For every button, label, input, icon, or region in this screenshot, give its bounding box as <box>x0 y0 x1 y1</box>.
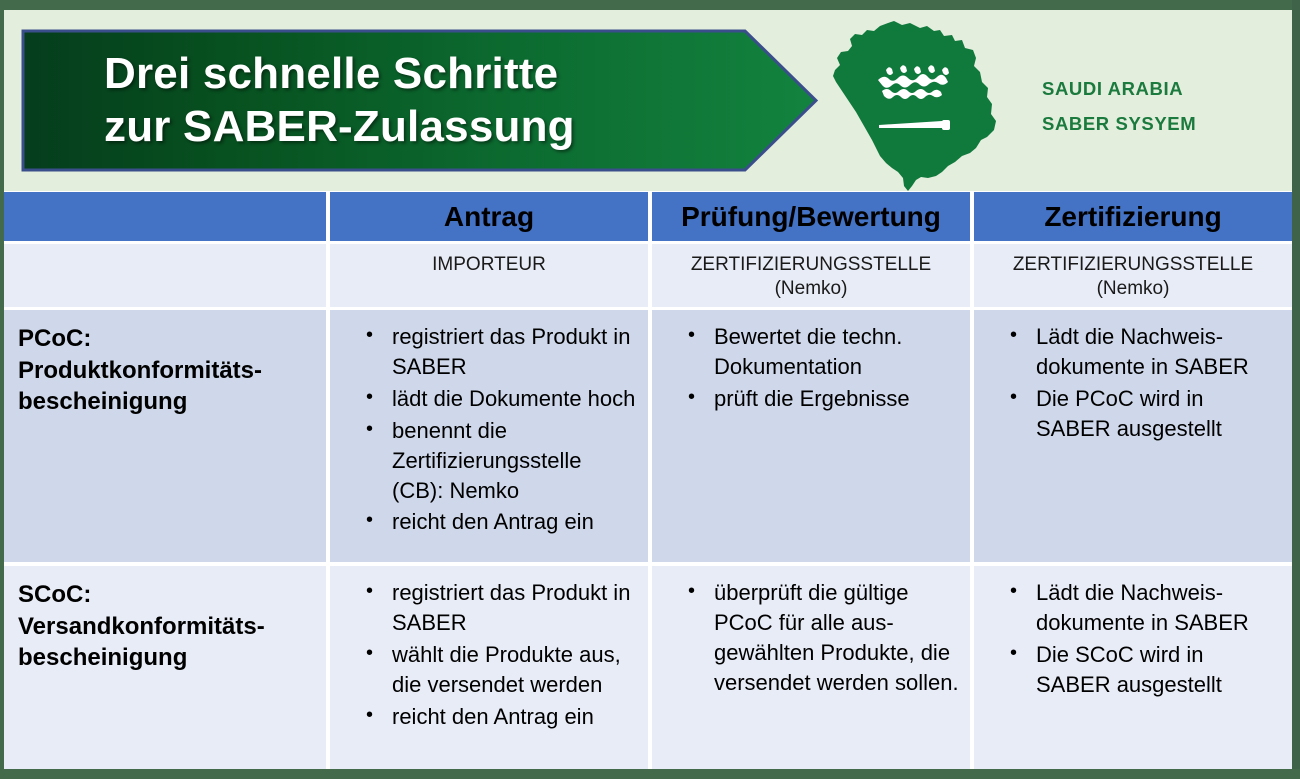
bullet-item: Die SCoC wird in SABER ausgestellt <box>1010 640 1282 700</box>
table-row-pcoc-antrag-cell: registriert das Produkt in SABERlädt die… <box>330 310 648 562</box>
bullet-item: benennt die Zertifizierungsstelle (CB): … <box>366 416 638 506</box>
frame-border-top <box>0 0 1300 10</box>
table-row-pcoc-label: PCoC: Produktkonformitäts- bescheinigung <box>4 310 326 418</box>
saudi-logo-caption-line1: SAUDI ARABIA <box>1042 80 1196 99</box>
table-header-row: Antrag Prüfung/Bewertung Zertifizierung <box>4 192 1292 241</box>
saudi-arabia-map-shape-icon <box>824 20 1004 192</box>
process-table: Antrag Prüfung/Bewertung Zertifizierung … <box>4 192 1292 769</box>
table-row-scoc-antrag-list: registriert das Produkt in SABERwählt di… <box>330 566 648 732</box>
bullet-item: überprüft die gültige PCoC für alle aus-… <box>688 578 960 698</box>
table-subheader-main-3: ZERTIFIZIERUNGSSTELLE <box>1013 253 1253 277</box>
bullet-item: reicht den Antrag ein <box>366 702 638 732</box>
table-header-cell-blank <box>4 192 326 241</box>
saudi-arabia-map-icon <box>824 20 1004 192</box>
table-row-pcoc-label-cell: PCoC: Produktkonformitäts- bescheinigung <box>4 310 326 562</box>
table-subheader-sub-2: (Nemko) <box>775 277 848 301</box>
banner-title-line2: zur SABER-Zulassung <box>104 101 721 153</box>
table-subheader-cell-zertifizierung: ZERTIFIZIERUNGSSTELLE (Nemko) <box>974 244 1292 307</box>
table-row-pcoc: PCoC: Produktkonformitäts- bescheinigung… <box>4 310 1292 562</box>
banner-title: Drei schnelle Schritte zur SABER-Zulassu… <box>21 29 721 172</box>
bullet-item: Bewertet die techn. Dokumentation <box>688 322 960 382</box>
table-subheader-sub-3: (Nemko) <box>1097 277 1170 301</box>
table-subheader-main-2: ZERTIFIZIERUNGSSTELLE <box>691 253 931 277</box>
bullet-item: Lädt die Nachweis-dokumente in SABER <box>1010 322 1282 382</box>
table-subheader-row: IMPORTEUR ZERTIFIZIERUNGSSTELLE (Nemko) … <box>4 244 1292 307</box>
frame-border-bottom <box>0 769 1300 779</box>
table-row-pcoc-pruefung-cell: Bewertet die techn. Dokumentationprüft d… <box>652 310 970 562</box>
table-subheader-main-1: IMPORTEUR <box>432 253 546 277</box>
bullet-item: reicht den Antrag ein <box>366 507 638 537</box>
bullet-item: prüft die Ergebnisse <box>688 384 960 414</box>
table-row-scoc-label-cell: SCoC: Versandkonformitäts- bescheinigung <box>4 566 326 769</box>
table-row-scoc: SCoC: Versandkonformitäts- bescheinigung… <box>4 566 1292 769</box>
bullet-item: lädt die Dokumente hoch <box>366 384 638 414</box>
bullet-item: Die PCoC wird in SABER ausgestellt <box>1010 384 1282 444</box>
table-row-pcoc-zertifizierung-list: Lädt die Nachweis-dokumente in SABERDie … <box>974 310 1292 444</box>
table-row-scoc-label: SCoC: Versandkonformitäts- bescheinigung <box>4 566 326 674</box>
table-row-scoc-antrag-cell: registriert das Produkt in SABERwählt di… <box>330 566 648 769</box>
bullet-item: registriert das Produkt in SABER <box>366 578 638 638</box>
table-header-cell-pruefung: Prüfung/Bewertung <box>652 192 970 241</box>
table-subheader-cell-blank <box>4 244 326 307</box>
bullet-item: wählt die Produkte aus, die versendet we… <box>366 640 638 700</box>
frame-border-right <box>1292 0 1300 779</box>
bullet-item: Lädt die Nachweis-dokumente in SABER <box>1010 578 1282 638</box>
saudi-logo-caption: SAUDI ARABIA SABER SYSYEM <box>1042 80 1196 133</box>
bullet-item: registriert das Produkt in SABER <box>366 322 638 382</box>
title-arrow-banner: Drei schnelle Schritte zur SABER-Zulassu… <box>21 29 818 172</box>
table-row-pcoc-pruefung-list: Bewertet die techn. Dokumentationprüft d… <box>652 310 970 414</box>
table-row-pcoc-zertifizierung-cell: Lädt die Nachweis-dokumente in SABERDie … <box>974 310 1292 562</box>
table-header-cell-zertifizierung: Zertifizierung <box>974 192 1292 241</box>
table-row-scoc-pruefung-list: überprüft die gültige PCoC für alle aus-… <box>652 566 970 698</box>
table-subheader-cell-antrag: IMPORTEUR <box>330 244 648 307</box>
table-row-scoc-zertifizierung-cell: Lädt die Nachweis-dokumente in SABERDie … <box>974 566 1292 769</box>
slide-root: Drei schnelle Schritte zur SABER-Zulassu… <box>0 0 1300 779</box>
banner-title-line1: Drei schnelle Schritte <box>104 48 721 100</box>
table-row-scoc-pruefung-cell: überprüft die gültige PCoC für alle aus-… <box>652 566 970 769</box>
table-row-scoc-zertifizierung-list: Lädt die Nachweis-dokumente in SABERDie … <box>974 566 1292 700</box>
table-row-pcoc-antrag-list: registriert das Produkt in SABERlädt die… <box>330 310 648 537</box>
table-subheader-cell-pruefung: ZERTIFIZIERUNGSSTELLE (Nemko) <box>652 244 970 307</box>
saudi-logo-caption-line2: SABER SYSYEM <box>1042 115 1196 134</box>
table-header-cell-antrag: Antrag <box>330 192 648 241</box>
